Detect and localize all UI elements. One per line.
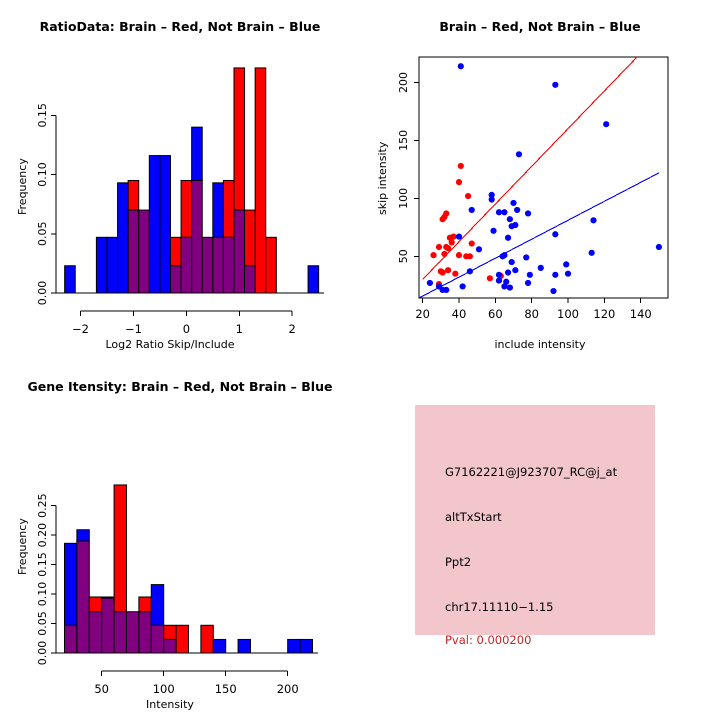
- histogram-bar: [308, 266, 319, 293]
- gene-histogram-title: Gene Itensity: Brain – Red, Not Brain – …: [0, 379, 360, 394]
- scatter-point: [496, 278, 502, 284]
- info-gene: Ppt2: [445, 555, 471, 569]
- histogram-bar-overlap: [139, 612, 151, 653]
- histogram-bar-overlap: [202, 237, 213, 293]
- scatter-point: [496, 272, 502, 278]
- panel-info: G7162221@J923707_RC@j_at altTxStart Ppt2…: [360, 360, 720, 720]
- y-axis-tick-label: 0.00: [36, 281, 49, 306]
- ratio-histogram-bars: [65, 68, 319, 293]
- scatter-point: [523, 254, 529, 260]
- scatter-ylabel: skip intensity: [376, 142, 389, 215]
- scatter-point: [467, 268, 473, 274]
- gene-histogram-bars: [64, 485, 312, 653]
- scatter-point: [445, 245, 451, 251]
- scatter-point: [501, 209, 507, 215]
- scatter-point: [449, 239, 455, 245]
- scatter-point: [507, 216, 513, 222]
- scatter-point: [603, 121, 609, 127]
- y-axis-tick-label: 0.10: [36, 162, 49, 187]
- histogram-bar: [213, 183, 224, 237]
- histogram-bar: [114, 485, 126, 612]
- x-axis-tick-label: 120: [593, 307, 615, 321]
- ratio-histogram-ylabel: Frequency: [16, 158, 29, 215]
- scatter-point: [489, 196, 495, 202]
- gene-histogram-plot: 0.000.050.100.150.200.2550100150200: [0, 360, 360, 720]
- scatter-point: [456, 252, 462, 258]
- scatter-point: [436, 244, 442, 250]
- x-axis-tick-label: −1: [125, 322, 142, 336]
- histogram-bar: [107, 237, 118, 293]
- scatter-point: [656, 244, 662, 250]
- gene-histogram-ylabel: Frequency: [16, 518, 29, 575]
- scatter-point: [476, 246, 482, 252]
- x-axis-tick-label: 2: [289, 322, 296, 336]
- scatter-point: [469, 240, 475, 246]
- x-axis-tick-label: 40: [452, 307, 467, 321]
- scatter-point: [500, 253, 506, 259]
- histogram-bar: [118, 183, 129, 293]
- panel-ratio-histogram: RatioData: Brain – Red, Not Brain – Blue…: [0, 0, 360, 360]
- histogram-bar: [288, 639, 300, 653]
- scatter-point: [496, 209, 502, 215]
- x-axis-tick-label: 1: [236, 322, 243, 336]
- histogram-bar-overlap: [213, 237, 224, 293]
- histogram-bar: [223, 180, 234, 237]
- scatter-point: [552, 82, 558, 88]
- histogram-bar-overlap: [151, 625, 163, 653]
- scatter-point: [452, 271, 458, 277]
- scatter-point: [527, 272, 533, 278]
- scatter-point: [589, 250, 595, 256]
- histogram-bar-overlap: [170, 266, 181, 293]
- y-axis-tick-label: 200: [397, 72, 410, 93]
- y-axis-tick-label: 0.15: [36, 103, 49, 128]
- scatter-point: [565, 271, 571, 277]
- scatter-point: [430, 252, 436, 258]
- panel-scatter: Brain – Red, Not Brain – Blue 5010015020…: [360, 0, 720, 360]
- histogram-bar-overlap: [126, 612, 138, 653]
- histogram-bar-overlap: [128, 210, 139, 293]
- scatter-point: [460, 283, 466, 289]
- scatter-point: [458, 163, 464, 169]
- y-axis-tick-label: 0.20: [36, 523, 49, 548]
- scatter-point: [512, 267, 518, 273]
- histogram-bar: [201, 625, 213, 653]
- histogram-bar: [151, 585, 163, 626]
- scatter-frame: [419, 57, 668, 298]
- y-axis-tick-label: 0.15: [36, 552, 49, 577]
- scatter-points: [427, 63, 662, 294]
- ratio-histogram-plot: 0.000.050.100.15−2−1012: [0, 0, 360, 360]
- fit-line-brain-fit: [423, 57, 637, 279]
- histogram-bar: [77, 530, 89, 541]
- scatter-point: [440, 269, 446, 275]
- histogram-bar: [181, 180, 192, 237]
- histogram-bar: [176, 625, 188, 653]
- scatter-point: [501, 283, 507, 289]
- ratio-histogram-xlabel: Log2 Ratio Skip/Include: [40, 338, 300, 351]
- scatter-point: [514, 207, 520, 213]
- scatter-point: [552, 231, 558, 237]
- scatter-point: [456, 179, 462, 185]
- x-axis-tick-label: 200: [277, 682, 299, 696]
- ratio-histogram-axes: 0.000.050.100.15−2−1012: [36, 103, 324, 336]
- ratio-histogram-title: RatioData: Brain – Red, Not Brain – Blue: [0, 19, 360, 34]
- y-axis-tick-label: 0.00: [36, 641, 49, 666]
- histogram-bar: [192, 127, 203, 180]
- scatter-title: Brain – Red, Not Brain – Blue: [360, 19, 720, 34]
- histogram-bar: [238, 639, 250, 653]
- histogram-bar-overlap: [64, 625, 76, 653]
- histogram-bar: [170, 237, 181, 265]
- x-axis-tick-label: 100: [557, 307, 579, 321]
- histogram-bar: [164, 625, 176, 639]
- histogram-bar: [160, 156, 171, 293]
- info-probe-id: G7162221@J923707_RC@j_at: [445, 465, 617, 479]
- scatter-point: [465, 193, 471, 199]
- panel-gene-histogram: Gene Itensity: Brain – Red, Not Brain – …: [0, 360, 360, 720]
- y-axis-tick-label: 0.05: [36, 611, 49, 636]
- x-axis-tick-label: 100: [153, 682, 175, 696]
- scatter-xlabel: include intensity: [400, 338, 680, 351]
- x-axis-tick-label: −2: [72, 322, 89, 336]
- y-axis-tick-label: 0.05: [36, 222, 49, 247]
- scatter-point: [563, 261, 569, 267]
- info-event-type: altTxStart: [445, 510, 502, 524]
- histogram-bar: [255, 68, 266, 293]
- histogram-bar-overlap: [245, 266, 256, 293]
- plot-frame: [419, 57, 668, 298]
- histogram-bar: [266, 237, 277, 293]
- scatter-point: [552, 272, 558, 278]
- scatter-point: [505, 235, 511, 241]
- x-axis-tick-label: 80: [524, 307, 539, 321]
- scatter-point: [490, 228, 496, 234]
- histogram-bar-overlap: [164, 639, 176, 653]
- histogram-bar: [89, 597, 101, 612]
- scatter-point: [516, 151, 522, 157]
- histogram-bar-overlap: [139, 210, 150, 293]
- scatter-plot: 5010015020020406080100120140: [360, 0, 720, 360]
- scatter-point: [458, 63, 464, 69]
- scatter-point: [590, 217, 596, 223]
- scatter-fit-lines: [419, 57, 659, 298]
- scatter-point: [538, 265, 544, 271]
- y-axis-tick-label: 50: [397, 249, 410, 263]
- x-axis-tick-label: 150: [215, 682, 237, 696]
- scatter-point: [441, 251, 447, 257]
- info-pval: Pval: 0.000200: [445, 633, 531, 647]
- histogram-bar: [64, 543, 76, 625]
- histogram-bar: [245, 210, 256, 266]
- scatter-point: [427, 280, 433, 286]
- histogram-bar: [139, 597, 151, 612]
- x-axis-tick-label: 60: [488, 307, 503, 321]
- figure-page: RatioData: Brain – Red, Not Brain – Blue…: [0, 0, 720, 720]
- histogram-bar-overlap: [192, 180, 203, 293]
- scatter-point: [487, 275, 493, 281]
- x-axis-tick-label: 140: [630, 307, 652, 321]
- histogram-bar-overlap: [102, 598, 114, 653]
- histogram-bar: [149, 156, 160, 293]
- histogram-bar-overlap: [77, 541, 89, 653]
- x-axis-tick-label: 50: [94, 682, 109, 696]
- info-locus: chr17.11110−1.15: [445, 600, 553, 614]
- scatter-point: [509, 223, 515, 229]
- histogram-bar-overlap: [181, 237, 192, 293]
- scatter-point: [550, 288, 556, 294]
- y-axis-tick-label: 150: [397, 130, 410, 151]
- y-axis-tick-label: 100: [397, 188, 410, 209]
- scatter-point: [507, 284, 513, 290]
- scatter-point: [525, 280, 531, 286]
- scatter-point: [443, 287, 449, 293]
- histogram-bar: [96, 237, 107, 293]
- histogram-bar-overlap: [114, 612, 126, 653]
- scatter-point: [525, 210, 531, 216]
- scatter-point: [445, 267, 451, 273]
- x-axis-tick-label: 0: [183, 322, 190, 336]
- y-axis-tick-label: 0.10: [36, 582, 49, 607]
- histogram-bar: [128, 180, 139, 210]
- scatter-point: [509, 259, 515, 265]
- scatter-point: [469, 207, 475, 213]
- scatter-point: [505, 269, 511, 275]
- y-axis-tick-label: 0.25: [36, 493, 49, 517]
- scatter-point: [440, 216, 446, 222]
- scatter-point: [510, 200, 516, 206]
- info-box: G7162221@J923707_RC@j_at altTxStart Ppt2…: [415, 405, 655, 635]
- scatter-point: [463, 253, 469, 259]
- histogram-bar-overlap: [89, 612, 101, 653]
- x-axis-tick-label: 20: [415, 307, 430, 321]
- histogram-bar: [300, 639, 312, 653]
- histogram-bar: [234, 68, 245, 210]
- histogram-bar: [213, 639, 225, 653]
- gene-histogram-xlabel: Intensity: [40, 698, 300, 711]
- histogram-bar-overlap: [223, 237, 234, 293]
- histogram-bar-overlap: [234, 210, 245, 293]
- histogram-bar: [65, 266, 76, 293]
- scatter-point: [456, 233, 462, 239]
